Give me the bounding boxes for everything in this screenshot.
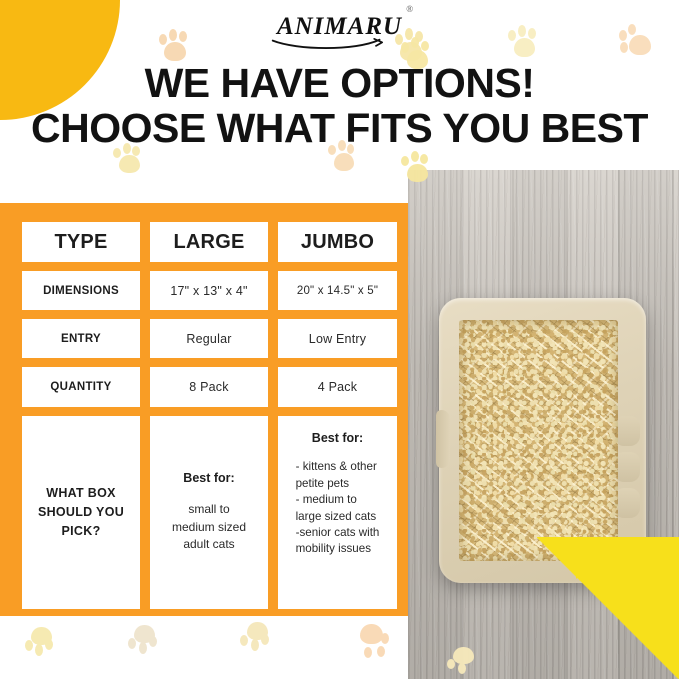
page-title: WE HAVE OPTIONS! CHOOSE WHAT FITS YOU BE…	[0, 62, 679, 149]
comparison-table: TYPE LARGE JUMBO DIMENSIONS 17" x 13" x …	[22, 222, 396, 604]
question-line-1: WHAT BOX	[46, 484, 116, 503]
jumbo-bullet-2b: large sized cats	[296, 509, 380, 525]
table-header-jumbo: JUMBO	[278, 222, 397, 262]
brand-logo: ANIMARU ®	[0, 14, 679, 58]
cell-entry-large: Regular	[150, 319, 268, 358]
best-for-label-jumbo: Best for:	[312, 429, 363, 447]
row-label-what-box-should-you-pick: WHAT BOX SHOULD YOU PICK?	[22, 416, 140, 609]
question-line-3: PICK?	[62, 522, 101, 541]
jumbo-bullet-3a: -senior cats with	[296, 525, 380, 541]
paw-print-icon	[125, 622, 163, 660]
cell-entry-jumbo: Low Entry	[278, 319, 397, 358]
cell-dimensions-large: 17" x 13" x 4"	[150, 271, 268, 310]
question-line-2: SHOULD YOU	[38, 503, 124, 522]
logo-swoosh-icon	[271, 38, 385, 52]
yellow-corner-wedge	[537, 537, 679, 679]
paw-print-icon	[398, 148, 436, 186]
best-for-label-large: Best for:	[183, 469, 234, 487]
paw-print-icon	[355, 621, 395, 661]
best-for-large-line-3: adult cats	[183, 536, 234, 553]
jumbo-bullet-1a: - kittens & other	[296, 459, 380, 475]
cell-best-for-large: Best for: small to medium sized adult ca…	[150, 416, 268, 609]
row-label-dimensions: DIMENSIONS	[22, 271, 140, 310]
headline-line-2: CHOOSE WHAT FITS YOU BEST	[0, 107, 679, 150]
jumbo-bullet-3b: mobility issues	[296, 541, 380, 557]
table-header-type: TYPE	[22, 222, 140, 262]
best-for-large-line-1: small to	[188, 501, 229, 518]
best-for-large-line-2: medium sized	[172, 519, 246, 536]
paw-print-icon	[238, 620, 276, 658]
brand-name: ANIMARU	[277, 13, 402, 40]
table-header-large: LARGE	[150, 222, 268, 262]
cell-best-for-jumbo: Best for: - kittens & other petite pets …	[278, 416, 397, 609]
litter-pellets	[459, 320, 618, 561]
cell-quantity-large: 8 Pack	[150, 367, 268, 407]
comparison-table-panel: TYPE LARGE JUMBO DIMENSIONS 17" x 13" x …	[0, 203, 408, 616]
cell-quantity-jumbo: 4 Pack	[278, 367, 397, 407]
row-label-quantity: QUANTITY	[22, 367, 140, 407]
paw-print-icon	[444, 645, 482, 679]
row-label-entry: ENTRY	[22, 319, 140, 358]
headline-line-1: WE HAVE OPTIONS!	[0, 62, 679, 105]
jumbo-bullet-1b: petite pets	[296, 476, 380, 492]
jumbo-bullet-2a: - medium to	[296, 492, 380, 508]
paw-print-icon	[22, 624, 60, 662]
infographic-canvas: ANIMARU ® WE HAVE OPTIONS! CHOOSE WHAT F…	[0, 0, 679, 679]
best-for-jumbo-list: - kittens & other petite pets - medium t…	[293, 459, 383, 558]
tray-side-notch	[436, 410, 450, 468]
cell-dimensions-jumbo: 20" x 14.5" x 5"	[278, 271, 397, 310]
registered-trademark-symbol: ®	[406, 5, 414, 14]
